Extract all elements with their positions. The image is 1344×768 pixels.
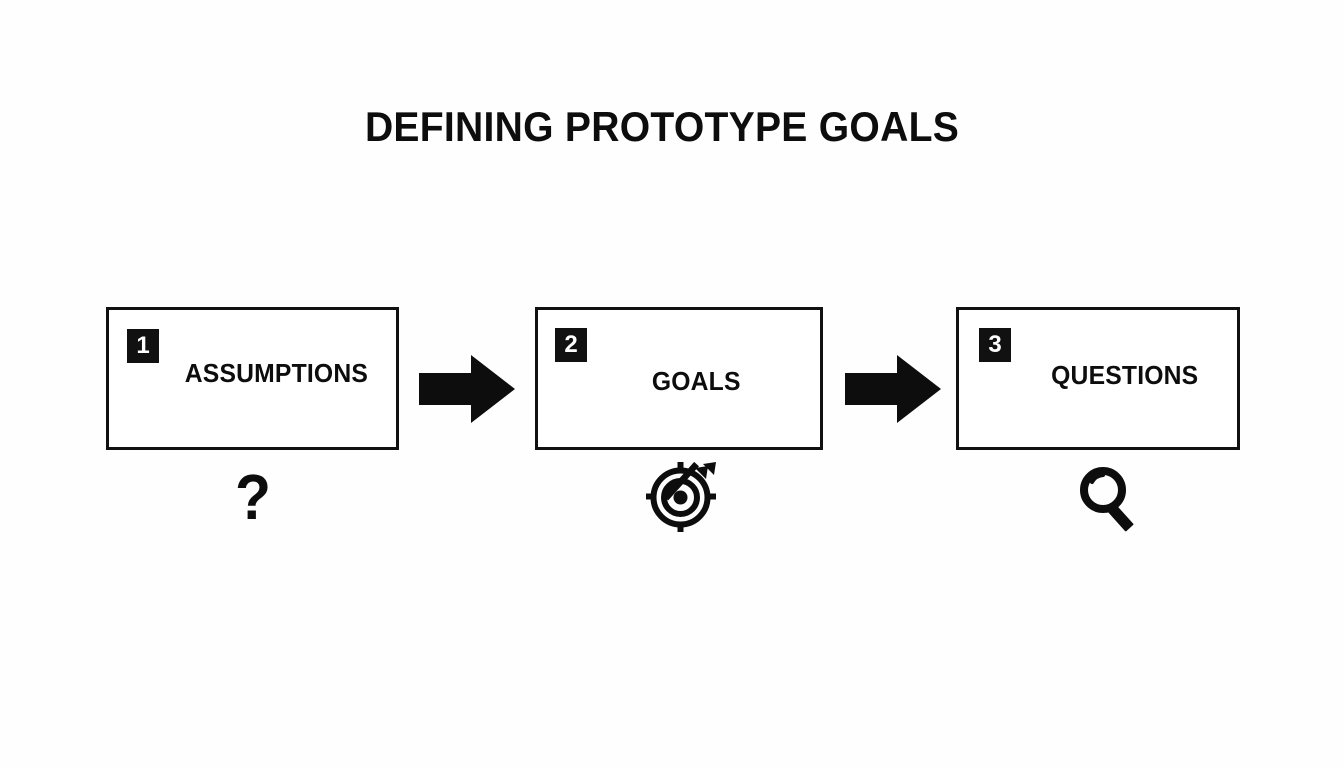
stage-label: ASSUMPTIONS [116,358,394,389]
stage-card-assumptions[interactable]: 1 ASSUMPTIONS [106,307,399,450]
question-mark-icon: ? [216,458,290,538]
status-badge: 2 [555,328,587,362]
target-bullseye-arrow-icon [646,462,716,532]
magnifying-glass-icon [1074,462,1148,536]
stage-label: QUESTIONS [966,360,1236,391]
slide-canvas: DEFINING PROTOTYPE GOALS 1 ASSUMPTIONS 2… [0,0,1344,768]
page-title: DEFINING PROTOTYPE GOALS [46,103,1277,151]
status-badge: 3 [979,328,1011,362]
stage-card-questions[interactable]: 3 QUESTIONS [956,307,1240,450]
arrow-right-icon [845,355,941,423]
stage-card-goals[interactable]: 2 GOALS [535,307,823,450]
arrow-right-icon [419,355,515,423]
stage-label: GOALS [545,366,819,397]
